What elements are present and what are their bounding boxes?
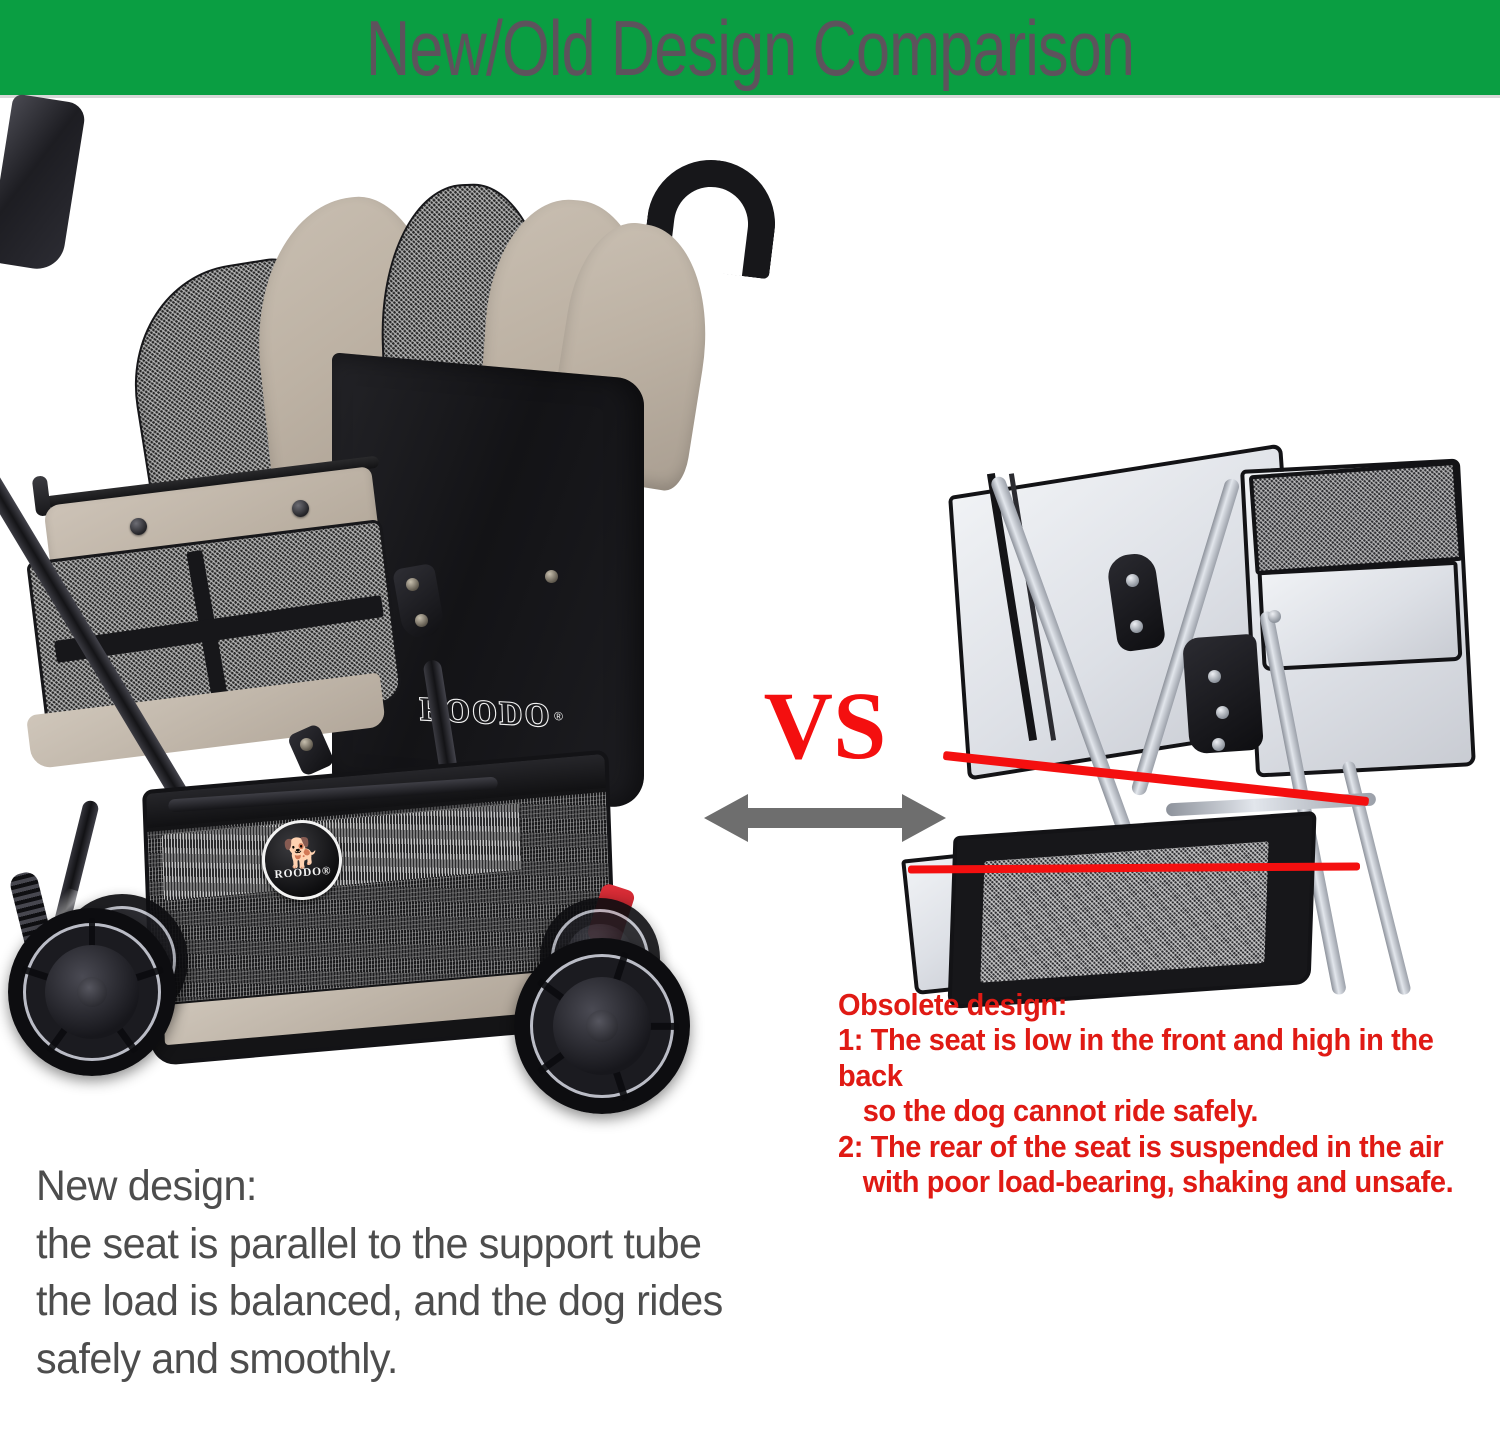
obsolete-storage-basket bbox=[947, 811, 1316, 1009]
page-title: New/Old Design Comparison bbox=[366, 9, 1134, 87]
new-design-product-image: ROODO ® 🐕 ROODO® bbox=[0, 98, 740, 1108]
new-caption-line-1: the seat is parallel to the support tube bbox=[36, 1216, 804, 1274]
wheel-rear bbox=[514, 938, 690, 1114]
obsolete-design-product-image bbox=[930, 458, 1500, 998]
new-caption-line-3: safely and smoothly. bbox=[36, 1331, 804, 1389]
comparison-stage: ROODO ® 🐕 ROODO® bbox=[0, 98, 1500, 1455]
versus-label: VS bbox=[700, 678, 950, 774]
badge-registered-mark: ® bbox=[321, 865, 331, 878]
frame-strut bbox=[0, 93, 87, 272]
obsolete-rivet-5 bbox=[1212, 738, 1225, 751]
obsolete-rivet-1 bbox=[1126, 574, 1139, 587]
snap-button-2 bbox=[292, 500, 309, 517]
wheel-front bbox=[8, 908, 176, 1076]
obsolete-rivet-6 bbox=[1268, 610, 1281, 623]
new-design-caption: New design: the seat is parallel to the … bbox=[36, 1158, 804, 1388]
obsolete-rivet-3 bbox=[1208, 670, 1221, 683]
obsolete-rivet-4 bbox=[1216, 706, 1229, 719]
obsolete-caption-heading: Obsolete design: bbox=[838, 988, 1465, 1023]
new-caption-heading: New design: bbox=[36, 1158, 804, 1216]
double-headed-arrow-icon bbox=[704, 790, 946, 846]
obsolete-rivet-2 bbox=[1130, 620, 1143, 633]
rivet-4 bbox=[545, 570, 558, 583]
new-caption-line-2: the load is balanced, and the dog rides bbox=[36, 1273, 804, 1331]
wheel-hub-icon bbox=[45, 945, 139, 1039]
obsolete-mesh-window bbox=[1249, 461, 1463, 575]
obsolete-storage-pocket bbox=[1258, 561, 1463, 671]
obsolete-caption-line-1: 1: The seat is low in the front and high… bbox=[838, 1023, 1465, 1094]
rivet-3 bbox=[300, 738, 313, 751]
obsolete-caption-line-3: 2: The rear of the seat is suspended in … bbox=[838, 1130, 1465, 1165]
snap-button-1 bbox=[130, 518, 147, 535]
obsolete-caption-line-4: with poor load-bearing, shaking and unsa… bbox=[838, 1165, 1465, 1200]
obsolete-design-caption: Obsolete design: 1: The seat is low in t… bbox=[838, 988, 1465, 1200]
obsolete-caption-line-2: so the dog cannot ride safely. bbox=[838, 1094, 1465, 1129]
dog-silhouette-icon: 🐕 bbox=[283, 841, 321, 867]
header-banner: New/Old Design Comparison bbox=[0, 0, 1500, 95]
rivet-1 bbox=[406, 578, 419, 591]
badge-label: ROODO® bbox=[274, 865, 332, 881]
wheel-hub-icon bbox=[553, 977, 652, 1076]
versus-block: VS bbox=[700, 678, 950, 863]
rivet-2 bbox=[415, 614, 428, 627]
brand-registered-mark: ® bbox=[554, 709, 563, 723]
badge-label-text: ROODO bbox=[274, 866, 322, 881]
obsolete-folding-clip bbox=[1182, 634, 1264, 755]
